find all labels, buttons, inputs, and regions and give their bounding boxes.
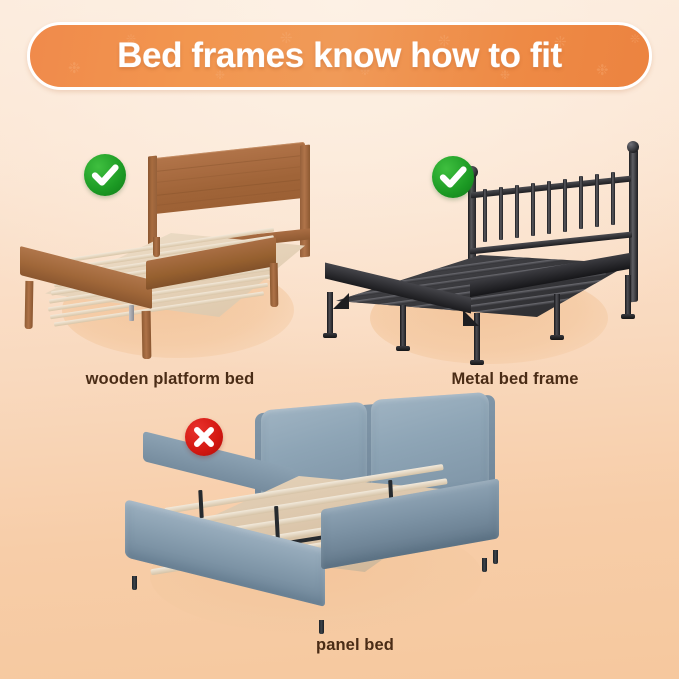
panel-support-bar <box>198 490 203 518</box>
wood-leg-back-right <box>270 263 279 307</box>
wooden-platform-bed-illustration <box>12 145 322 360</box>
wood-leg-back-left <box>153 237 160 257</box>
caption-wooden-platform-bed: wooden platform bed <box>50 370 290 389</box>
metal-spindle <box>483 189 487 242</box>
panel-leg-back-right-2 <box>493 550 498 564</box>
header-banner: ❉ ❊ ❉ ❊ ❉ ❊ ❉ ❊ ❉ ❊ Bed frames know how … <box>27 22 652 90</box>
check-circle-icon <box>432 156 474 198</box>
metal-gusset-left <box>333 293 349 309</box>
wood-leg-front-left <box>25 281 34 329</box>
wood-center-support-foot <box>129 305 134 321</box>
metal-spindle <box>579 176 583 229</box>
metal-leg-center-front <box>400 305 406 347</box>
metal-foot-front-right <box>470 360 484 365</box>
metal-foot-center-front <box>396 346 410 351</box>
metal-spindle <box>611 172 615 225</box>
metal-spindle <box>515 185 519 238</box>
cross-badge-panel-bed <box>185 418 223 456</box>
panel-leg-front-left <box>132 576 137 590</box>
caption-metal-bed-frame: Metal bed frame <box>400 370 630 389</box>
metal-headboard-top-rail <box>471 176 631 199</box>
metal-spindle <box>563 179 567 232</box>
wood-headboard-panel <box>153 142 305 215</box>
metal-spindle <box>531 183 535 236</box>
x-circle-icon <box>185 418 223 456</box>
check-badge-wooden-bed <box>84 154 126 196</box>
metal-headboard-bottom-rail <box>470 231 632 254</box>
metal-foot-front-left <box>323 333 337 338</box>
metal-foot-back-right <box>621 314 635 319</box>
caption-panel-bed: panel bed <box>270 636 440 655</box>
metal-gusset-right <box>463 310 479 326</box>
metal-leg-back-right <box>625 275 631 315</box>
banner-title: Bed frames know how to fit <box>30 25 649 87</box>
metal-foot-center-back <box>550 335 564 340</box>
metal-spindle <box>595 174 599 227</box>
wood-leg-front-right <box>142 311 152 359</box>
check-badge-metal-bed <box>432 156 474 198</box>
metal-spindle <box>547 181 551 234</box>
metal-spindle <box>499 187 503 240</box>
metal-finial-right <box>627 141 639 153</box>
check-circle-icon <box>84 154 126 196</box>
metal-leg-center-back <box>554 294 560 336</box>
metal-bed-frame-illustration <box>322 150 658 362</box>
panel-leg-back-right <box>482 558 487 572</box>
infographic-canvas: ❉ ❊ ❉ ❊ ❉ ❊ ❉ ❊ ❉ ❊ Bed frames know how … <box>0 0 679 679</box>
panel-leg-front-center <box>319 620 324 634</box>
